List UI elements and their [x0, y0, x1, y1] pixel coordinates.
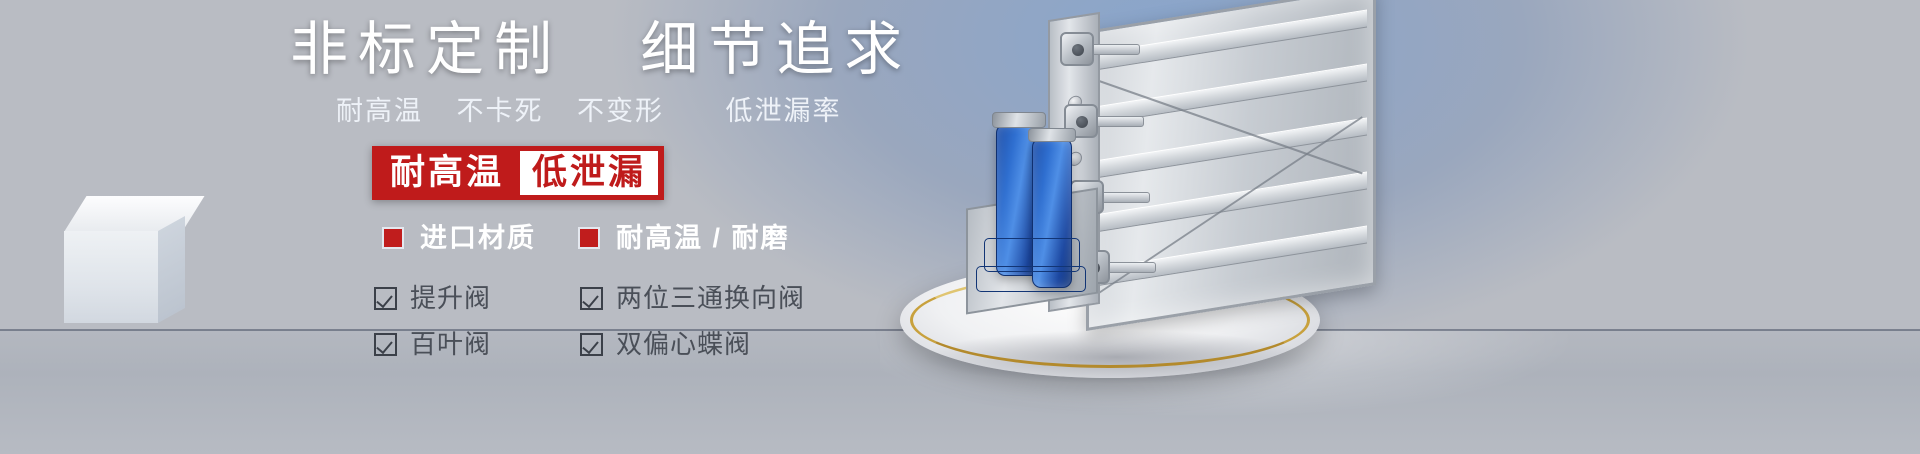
- checkmark-box-icon: [580, 333, 603, 356]
- damper-blade: [1095, 9, 1367, 70]
- product-checklist: 提升阀 两位三通换向阀 百叶阀 双偏心蝶阀: [374, 283, 805, 359]
- checklist-item: 双偏心蝶阀: [580, 329, 805, 359]
- subheadline-item-2: 不卡死: [457, 96, 544, 126]
- damper-blade: [1095, 225, 1367, 286]
- feature-list: 进口材质 耐高温 / 耐磨: [382, 222, 790, 254]
- subheadline-item-1: 耐高温: [336, 96, 423, 126]
- headline: 非标定制 细节追求: [290, 18, 930, 82]
- checklist-label: 双偏心蝶阀: [616, 329, 751, 359]
- red-square-marker-icon: [578, 227, 600, 249]
- actuator-manifold: [976, 266, 1086, 292]
- headline-part-2: 细节追求: [640, 17, 912, 82]
- checkmark-box-icon: [374, 333, 397, 356]
- subheadline: 耐高温 不卡死 不变形 低泄漏率: [336, 94, 956, 128]
- badge-right-label: 低泄漏: [520, 151, 658, 195]
- actuator-cap: [992, 112, 1046, 128]
- checkmark-box-icon: [580, 287, 603, 310]
- headline-part-1: 非标定制: [290, 17, 562, 82]
- promo-banner: 非标定制 细节追求 耐高温 不卡死 不变形 低泄漏率 耐高温 低泄漏 进口材质 …: [0, 0, 1920, 454]
- checklist-label: 两位三通换向阀: [616, 283, 805, 313]
- subheadline-item-4: 低泄漏率: [726, 96, 842, 126]
- feature-label: 进口材质: [420, 222, 536, 254]
- feature-item: 耐高温 / 耐磨: [578, 222, 790, 254]
- highlight-badge: 耐高温 低泄漏: [372, 146, 664, 200]
- checklist-label: 百叶阀: [410, 329, 491, 359]
- red-square-marker-icon: [382, 227, 404, 249]
- checklist-item: 百叶阀: [374, 329, 544, 359]
- checklist-item: 提升阀: [374, 283, 544, 313]
- checklist-label: 提升阀: [410, 283, 491, 313]
- marketing-copy-block: 非标定制 细节追求 耐高温 不卡死 不变形 低泄漏率 耐高温 低泄漏 进口材质 …: [0, 0, 1000, 454]
- checkmark-box-icon: [374, 287, 397, 310]
- feature-label: 耐高温 / 耐磨: [616, 222, 790, 254]
- feature-item: 进口材质: [382, 222, 536, 254]
- checklist-item: 两位三通换向阀: [580, 283, 805, 313]
- shaft-clamp: [1060, 32, 1094, 66]
- product-image: [880, 0, 1920, 454]
- badge-left-label: 耐高温: [378, 151, 520, 195]
- subheadline-item-3: 不变形: [577, 96, 664, 126]
- actuator-cap: [1028, 128, 1076, 142]
